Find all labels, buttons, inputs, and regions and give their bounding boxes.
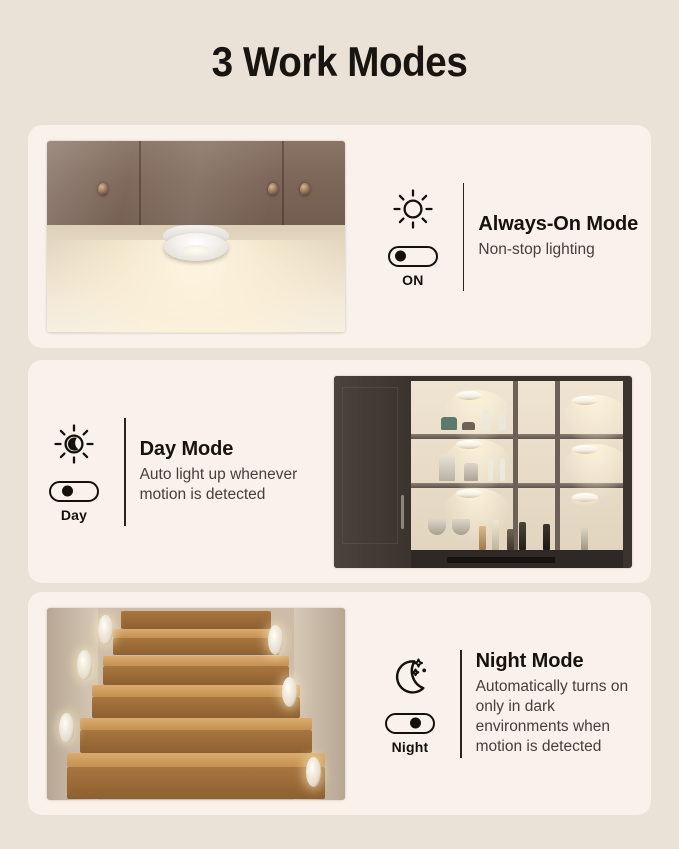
switch-knob [395,251,406,262]
shelf-puck-light [572,493,598,502]
mode-card-day: Day Day Mode Auto light up whenever moti… [28,360,651,583]
text-column: Night Mode Automatically turns on only i… [476,650,641,756]
page-title: 3 Work Modes [27,38,652,86]
shelf-ornament [441,417,457,430]
wine-glass [488,459,493,481]
stair-riser [103,666,289,685]
mode-card-night: Night Night Mode Automatically turns on … [28,592,651,815]
icon-column: ON [377,186,449,288]
switch-label: ON [402,272,423,288]
switch-knob [62,486,73,497]
door-mullion [513,381,518,550]
side-cabinet [334,376,411,568]
moon-stars-icon [387,653,433,699]
stairway-step-lights-photo [47,608,345,800]
glass-cabinet-case [411,381,623,550]
ceramic-vase [439,455,455,481]
stair-riser [113,638,279,655]
puck-lens [182,245,210,256]
vertical-divider [463,183,465,291]
vertical-divider [124,418,126,526]
vertical-divider [460,650,462,758]
mode-switch-always-on[interactable] [388,246,438,267]
step-puck-light [98,615,113,645]
bottle [519,522,526,550]
stair-riser [80,730,312,753]
puck-light [163,225,229,265]
sun-icon [390,186,436,232]
step-puck-light [77,650,92,680]
switch-label: Night [392,739,429,755]
stair-tread [67,753,325,766]
mode-info-day: Day Day Mode Auto light up whenever moti… [28,418,315,526]
bowl [452,519,470,535]
cabinet-door [47,141,345,225]
product-feature-page: 3 Work Modes [0,0,679,849]
glass-cabinet-shelves-photo [334,376,632,568]
mode-info-night: Night Night Mode Automatically turns on … [364,650,651,758]
under-cabinet-puck-light-photo [47,141,345,333]
mode-card-always-on: ON Always-On Mode Non-stop lighting [28,125,651,348]
text-column: Always-On Mode Non-stop lighting [478,213,638,260]
bottle [581,527,588,550]
step-puck-light [59,713,74,743]
mode-switch-night[interactable] [385,713,435,734]
stair-riser [92,697,300,718]
cabinet-panel [342,387,398,544]
mode-switch-day[interactable] [49,481,99,502]
ceramic-bowl [464,463,478,481]
stair-tread [80,718,312,730]
step-puck-light [268,625,283,655]
cabinet-handle [401,495,404,529]
mode-title: Night Mode [476,650,641,673]
bowl [428,519,446,535]
bottle [492,520,499,550]
icon-column: Night [374,653,446,755]
cabinet-knob [98,183,108,196]
door-mullion [555,381,560,550]
switch-knob [410,718,421,729]
stair-tread [113,629,279,639]
shelf-ornament [462,422,475,430]
icon-column: Day [38,421,110,523]
mode-description: Auto light up whenever motion is detecte… [140,465,305,505]
stair-riser [67,767,325,800]
cabinet-seam [282,141,284,225]
stair-riser [121,611,271,628]
mode-description: Non-stop lighting [478,240,638,260]
cabinet-knob [268,183,278,196]
bottle [479,526,486,550]
text-column: Day Mode Auto light up whenever motion i… [140,438,305,505]
mode-title: Always-On Mode [478,213,638,236]
mode-title: Day Mode [140,438,305,461]
stair-tread [103,656,289,667]
sun-moon-icon [51,421,97,467]
stair-tread [92,685,300,697]
rail [447,557,554,563]
glassware [498,414,506,430]
mode-description: Automatically turns on only in dark envi… [476,677,641,756]
wine-glass [500,459,505,481]
mode-info-always-on: ON Always-On Mode Non-stop lighting [364,183,651,291]
cabinet-seam [139,141,141,225]
switch-label: Day [61,507,87,523]
glassware [483,410,490,430]
bottle [543,524,550,550]
bottle [507,529,514,550]
